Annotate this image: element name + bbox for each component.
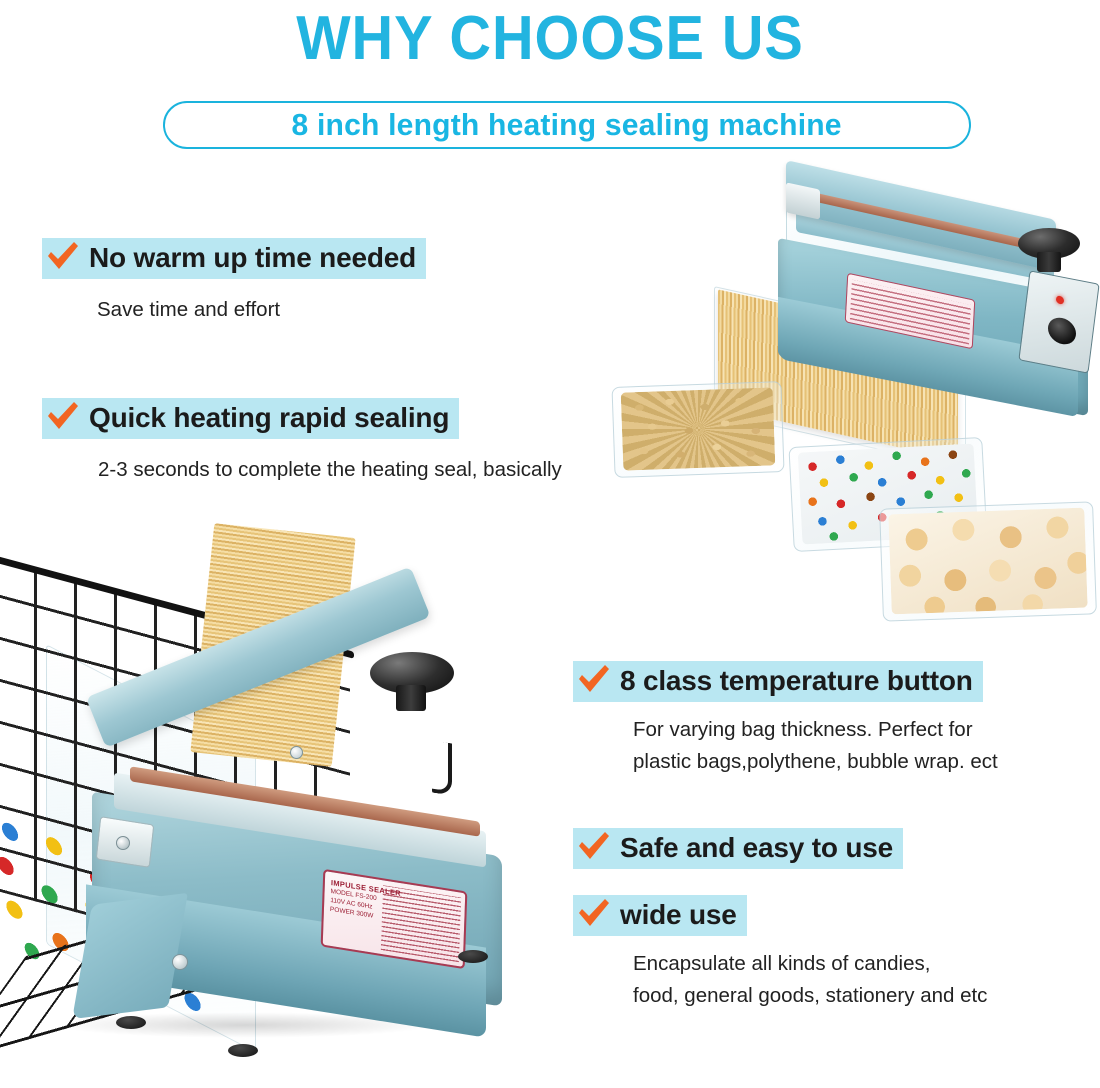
impulse-sealer-machine: IMPULSE SEALER MODEL FS-200 110V AC 60Hz… (72, 624, 512, 1054)
sealer-wire-hook (432, 741, 452, 796)
feature-body-line: Encapsulate all kinds of candies, (633, 948, 987, 980)
feature-body-line: 2-3 seconds to complete the heating seal… (98, 454, 562, 486)
feature-body-line: plastic bags,polythene, bubble wrap. ect (633, 746, 998, 778)
feature-quick-heating: Quick heating rapid sealing 2-3 seconds … (42, 398, 562, 486)
subtitle-pill: 8 inch length heating sealing machine (163, 101, 971, 149)
cracker-bag (888, 508, 1087, 615)
product-photo-bottom-left: IMPULSE SEALER MODEL FS-200 110V AC 60Hz… (0, 520, 554, 1068)
front-screw-icon (172, 954, 188, 970)
orange-check-icon (46, 401, 80, 431)
orange-check-icon (46, 241, 80, 271)
feature-heading-band: Safe and easy to use (573, 828, 903, 869)
feature-body: Encapsulate all kinds of candies, food, … (633, 948, 987, 1012)
hinge-screw-icon (116, 836, 130, 850)
feature-heading-band: No warm up time needed (42, 238, 426, 279)
sealer-foot (458, 950, 488, 963)
feature-wide-use: wide use Encapsulate all kinds of candie… (573, 895, 987, 1012)
feature-body: Save time and effort (97, 294, 426, 326)
knob-stem (396, 685, 426, 711)
feature-heading-text: Quick heating rapid sealing (89, 402, 449, 434)
feature-heading-text: Safe and easy to use (620, 832, 893, 864)
sealer-foot (228, 1044, 258, 1057)
feature-heading-text: 8 class temperature button (620, 665, 973, 697)
feature-temperature-button: 8 class temperature button For varying b… (573, 661, 998, 778)
bag-contents (621, 387, 776, 470)
feature-safe-easy: Safe and easy to use (573, 828, 903, 869)
sealer-left-end (72, 893, 188, 1019)
orange-check-icon (577, 831, 611, 861)
feature-body-line: Save time and effort (97, 294, 426, 326)
farfalle-pasta-bag (621, 387, 776, 470)
bag-contents (888, 508, 1087, 615)
orange-check-icon (577, 664, 611, 694)
feature-heading-band: wide use (573, 895, 747, 936)
feature-no-warm-up: No warm up time needed Save time and eff… (42, 238, 426, 326)
feature-body-line: food, general goods, stationery and etc (633, 980, 987, 1012)
infographic-page: WHY CHOOSE US 8 inch length heating seal… (0, 0, 1100, 1068)
round-crackers (888, 508, 1087, 615)
feature-body-line: For varying bag thickness. Perfect for (633, 714, 998, 746)
sealer-handle-knob (1018, 228, 1080, 268)
product-photo-top-right (600, 168, 1100, 623)
feature-heading-band: Quick heating rapid sealing (42, 398, 459, 439)
feature-heading-band: 8 class temperature button (573, 661, 983, 702)
sealer-foot (116, 1016, 146, 1029)
subtitle-text: 8 inch length heating sealing machine (292, 107, 842, 143)
arm-screw-icon (290, 746, 303, 759)
page-title: WHY CHOOSE US (39, 2, 1062, 76)
farfalle-pasta (621, 387, 776, 470)
feature-heading-text: wide use (620, 899, 737, 931)
orange-check-icon (577, 898, 611, 928)
knob-stem (1037, 252, 1061, 272)
sealer-handle-knob (370, 652, 454, 708)
feature-heading-text: No warm up time needed (89, 242, 416, 274)
feature-body: For varying bag thickness. Perfect for p… (633, 714, 998, 778)
label-fineprint (381, 885, 461, 962)
feature-body: 2-3 seconds to complete the heating seal… (98, 454, 562, 486)
